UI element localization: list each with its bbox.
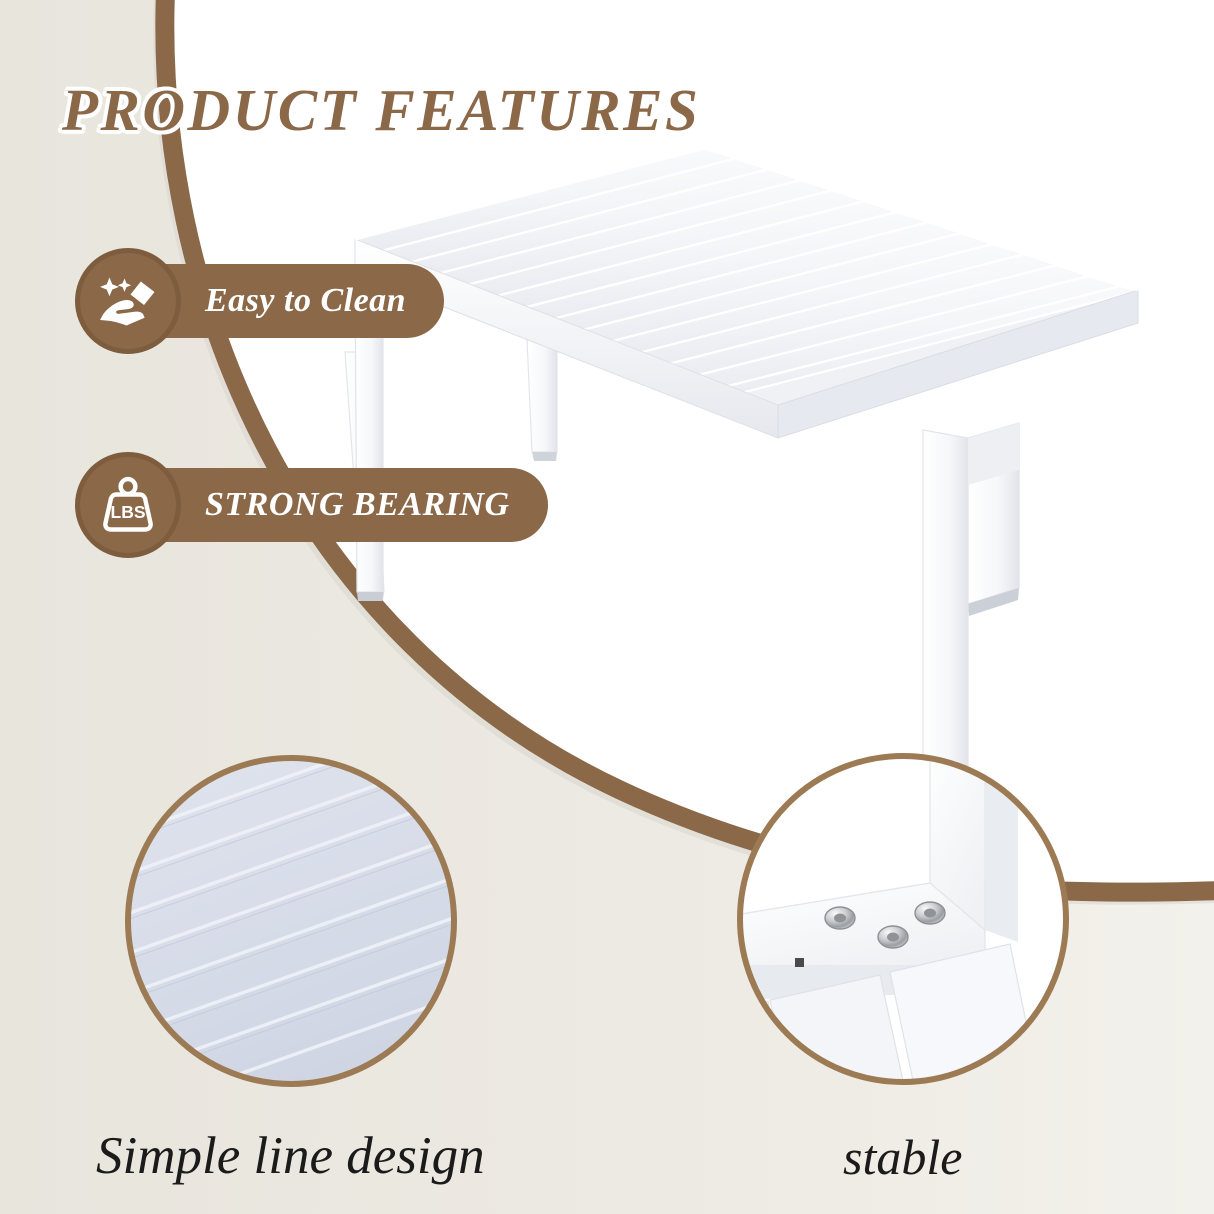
sparkle-hand-cloth-icon [75,248,181,354]
inset-right-stable [735,740,1075,1090]
page-title: PRODUCT FEATURES [62,76,700,145]
feature-label: STRONG BEARING [205,486,510,524]
inset-caption-stable: stable [843,1128,962,1186]
feature-row-easy-to-clean[interactable]: Easy to Clean [75,248,444,354]
inset-caption-simple-line-design: Simple line design [96,1126,485,1186]
weight-lbs-icon: LBS [75,452,181,558]
weight-icon-text: LBS [111,502,146,522]
feature-row-strong-bearing[interactable]: LBS STRONG BEARING [75,452,548,558]
detail-insets-layer [0,0,1214,1214]
product-features-poster: PRODUCT FEATURES Easy to Clean [0,0,1214,1214]
inset-right-content [735,740,1075,1090]
inset-left-content [110,632,470,1160]
feature-label: Easy to Clean [205,282,406,320]
inset-left-simple-line-design [110,632,470,1160]
